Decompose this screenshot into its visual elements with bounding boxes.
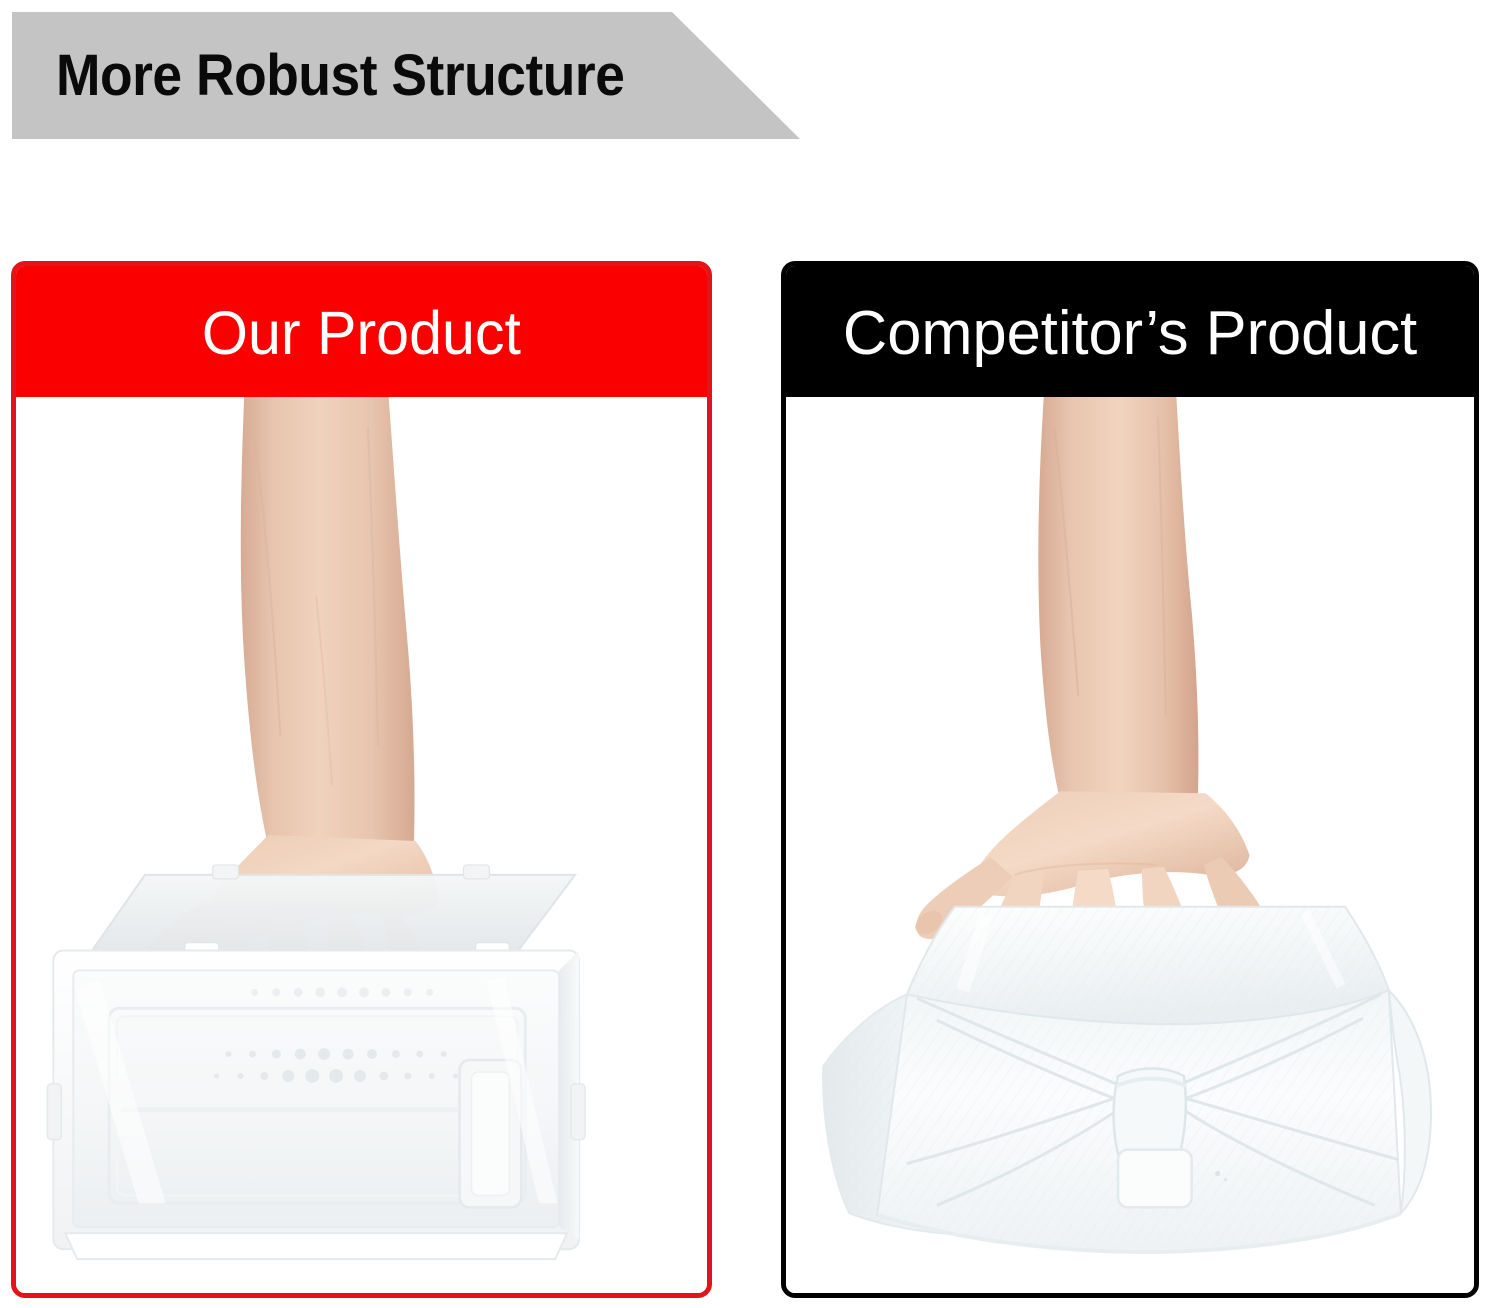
panel-header-label-competitor-product: Competitor’s Product — [843, 303, 1417, 365]
forearm-right — [1038, 397, 1198, 801]
panel-photo-our-product — [16, 397, 707, 1293]
our-product-box — [47, 865, 585, 1259]
forearm-left — [241, 397, 415, 847]
panel-competitor-product: Competitor’s Product — [781, 261, 1479, 1298]
panel-our-product: Our Product — [11, 261, 712, 1298]
banner-title: More Robust Structure — [56, 47, 674, 105]
banner: More Robust Structure — [12, 12, 800, 139]
panel-header-our-product: Our Product — [16, 266, 707, 397]
panel-header-label-our-product: Our Product — [202, 303, 521, 364]
our-product-illustration — [16, 397, 707, 1293]
panel-photo-competitor-product — [786, 397, 1474, 1293]
competitor-product-illustration — [786, 397, 1474, 1293]
banner-title-text: More Robust Structure — [56, 47, 624, 105]
panel-header-competitor-product: Competitor’s Product — [786, 266, 1474, 397]
